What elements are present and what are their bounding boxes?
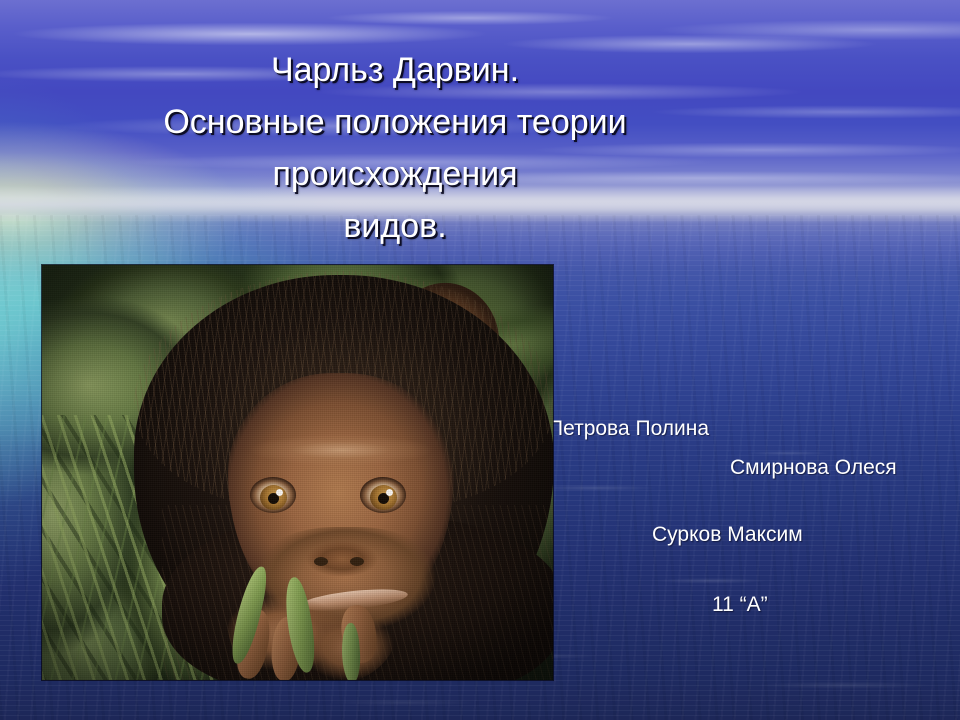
author-name-2: Смирнова Олеся <box>730 455 897 481</box>
author-name-3: Сурков Максим <box>652 522 803 548</box>
author-name-1: Петрова Полина <box>548 416 709 442</box>
presentation-slide: Чарльз Дарвин. Основные положения теории… <box>0 0 960 720</box>
title-line-3: происхождения <box>0 148 790 200</box>
chimpanzee-photo <box>42 265 553 680</box>
title-line-2: Основные положения теории <box>0 96 790 148</box>
photo-vignette <box>42 265 553 680</box>
title-line-4: видов. <box>0 200 790 252</box>
slide-title: Чарльз Дарвин. Основные положения теории… <box>0 44 790 252</box>
title-line-1: Чарльз Дарвин. <box>0 44 790 96</box>
class-label: 11 “А” <box>712 592 768 618</box>
